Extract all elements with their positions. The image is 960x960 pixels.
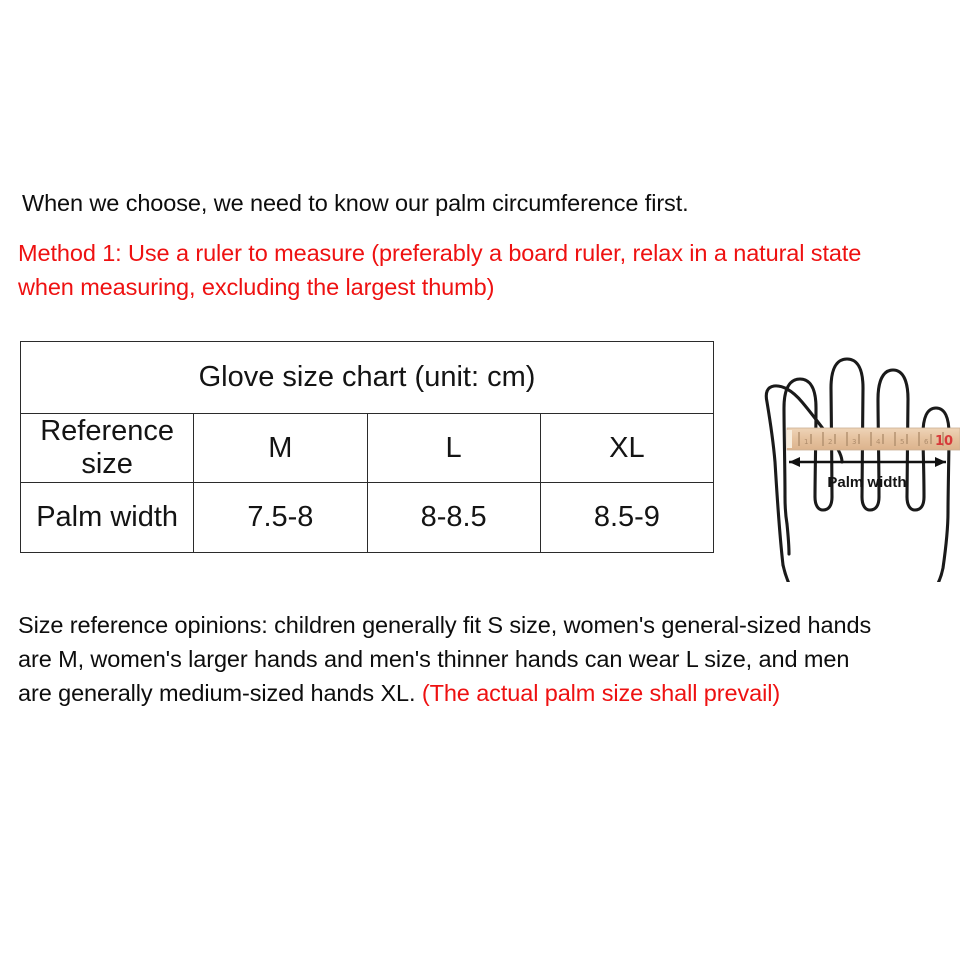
- reference-size-label: Reference size: [21, 414, 194, 483]
- svg-text:3: 3: [852, 438, 856, 446]
- size-header-l: L: [367, 414, 540, 483]
- ruler-icon: 1 2 3 4 5 6 10: [787, 428, 960, 450]
- summary-text: Size reference opinions: children genera…: [18, 608, 880, 710]
- hand-outline-icon: [766, 359, 949, 582]
- svg-text:6: 6: [924, 438, 929, 446]
- palm-width-caption: Palm width: [827, 474, 906, 491]
- size-table: Glove size chart (unit: cm) Reference si…: [20, 341, 714, 553]
- svg-text:1: 1: [804, 438, 808, 446]
- intro-text: When we choose, we need to know our palm…: [22, 188, 902, 218]
- glove-size-chart: Glove size chart (unit: cm) Reference si…: [20, 341, 714, 553]
- palm-width-value-m: 7.5-8: [194, 483, 367, 553]
- palm-width-value-l: 8-8.5: [367, 483, 540, 553]
- size-table-title: Glove size chart (unit: cm): [21, 342, 714, 414]
- table-row-title: Glove size chart (unit: cm): [21, 342, 714, 414]
- palm-width-value-xl: 8.5-9: [540, 483, 713, 553]
- svg-text:2: 2: [828, 438, 832, 446]
- ruler-number-label: 10: [935, 434, 953, 449]
- svg-text:4: 4: [876, 438, 881, 446]
- hand-measurement-diagram: 1 2 3 4 5 6 10 Palm width: [705, 262, 960, 582]
- table-row-header: Reference size M L XL: [21, 414, 714, 483]
- palm-width-label: Palm width: [21, 483, 194, 553]
- size-header-xl: XL: [540, 414, 713, 483]
- svg-text:5: 5: [900, 438, 904, 446]
- glove-size-guide-page: When we choose, we need to know our palm…: [0, 0, 960, 960]
- table-row-palm-width: Palm width 7.5-8 8-8.5 8.5-9: [21, 483, 714, 553]
- summary-red-note: (The actual palm size shall prevail): [422, 680, 780, 706]
- size-header-m: M: [194, 414, 367, 483]
